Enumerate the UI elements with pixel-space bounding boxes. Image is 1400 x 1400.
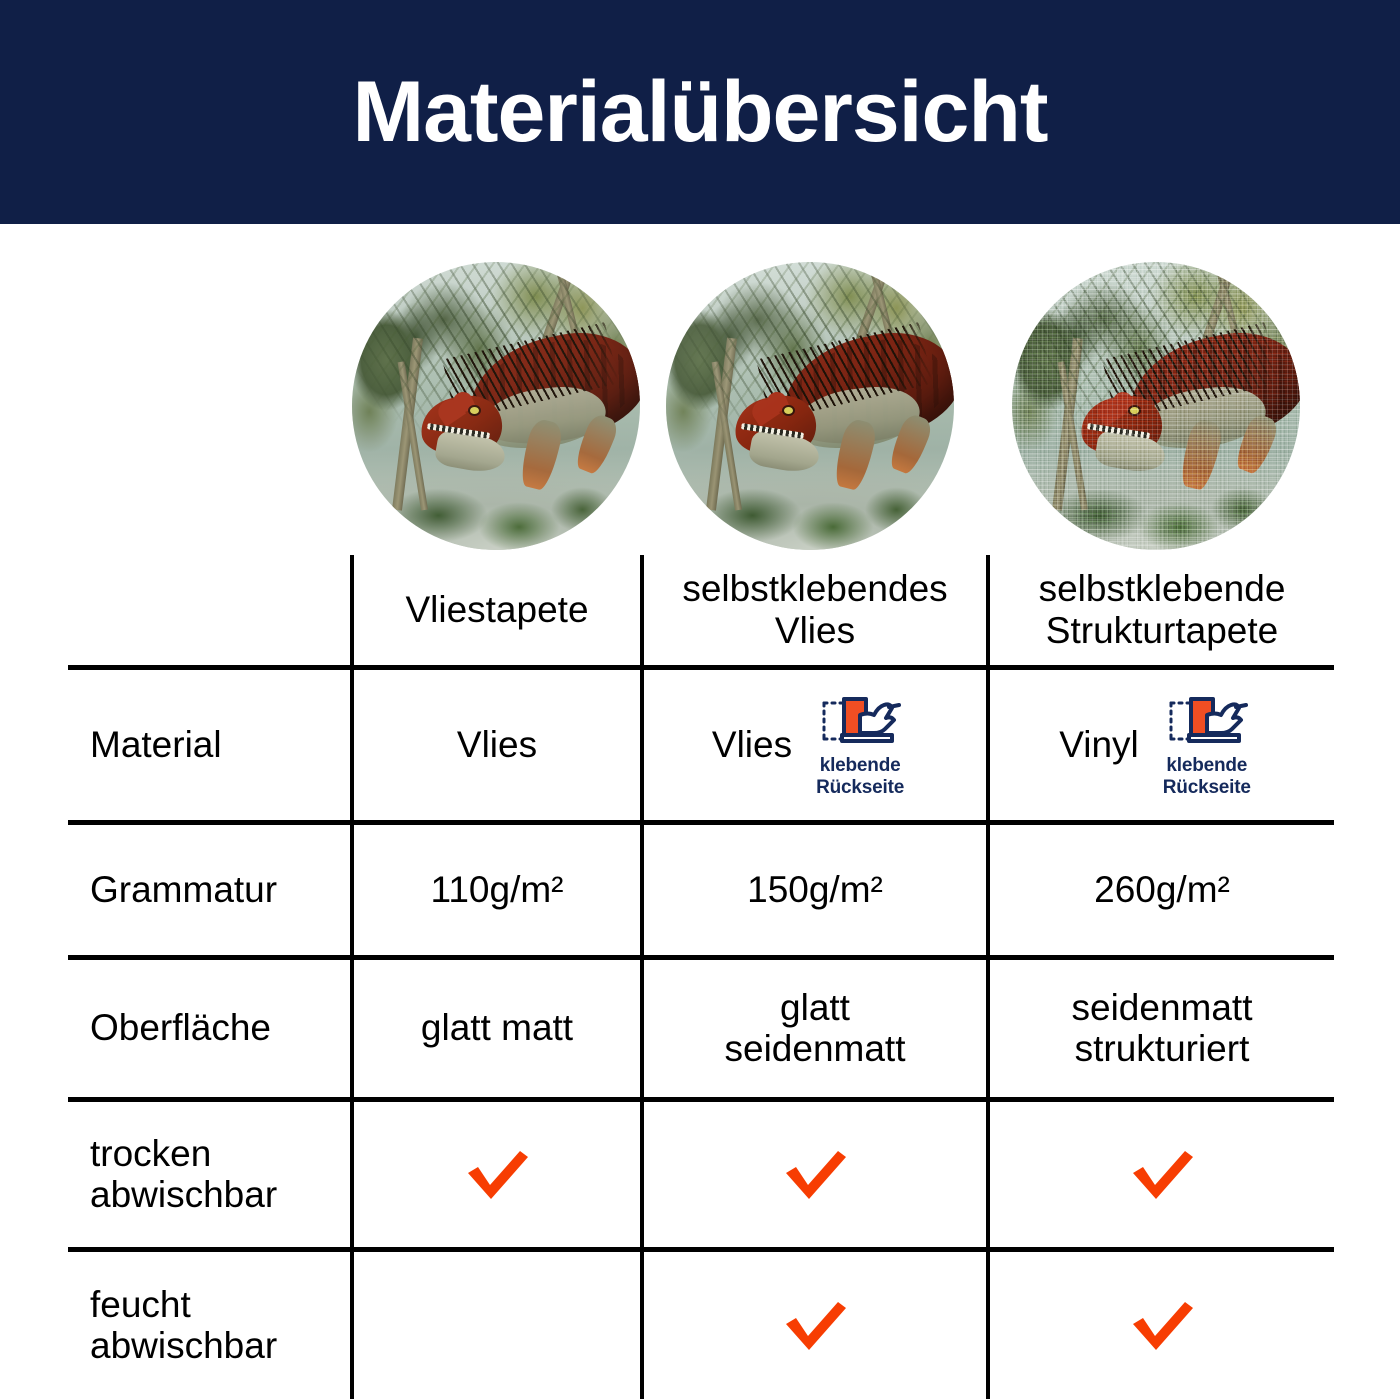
row-label-feucht-abwischbar: feucht abwischbar: [68, 1249, 352, 1399]
cell-value: 150g/m²: [747, 869, 883, 910]
table-header-row: Vliestapete selbstklebendes Vlies selbst…: [68, 555, 1334, 667]
peel-off-backing-icon: [814, 691, 906, 753]
header-cell-selbstklebendes-vlies: selbstklebendes Vlies: [642, 555, 988, 667]
cell-trocken-selbstklebende-strukturtapete: [988, 1099, 1334, 1249]
cell-feucht-selbstklebendes-vlies: [642, 1249, 988, 1399]
check-icon: [776, 1143, 854, 1205]
cell-grammatur-vliestapete: 110g/m²: [352, 822, 642, 957]
check-icon: [1123, 1294, 1201, 1356]
header-label: selbstklebendes Vlies: [682, 568, 947, 650]
material-sample-images: [352, 262, 1334, 554]
jungle-scene: [1012, 262, 1300, 550]
row-label-material: Material: [68, 667, 352, 822]
check-icon: [458, 1143, 536, 1205]
cell-value: Vinyl: [1059, 724, 1139, 765]
check-icon: [1123, 1143, 1201, 1205]
cell-material-selbstklebende-strukturtapete: Vinyl: [988, 667, 1334, 822]
structured-finish-overlay-fine: [1012, 262, 1300, 550]
header-label: selbstklebende Strukturtapete: [1039, 568, 1286, 650]
badge-label: klebende Rückseite: [1163, 755, 1251, 798]
table-row-trocken-abwischbar: trocken abwischbar: [68, 1099, 1334, 1249]
header-banner: Materialübersicht: [0, 0, 1400, 224]
no-check-placeholder: [458, 1294, 536, 1356]
header-label: Vliestapete: [405, 589, 588, 630]
cell-trocken-vliestapete: [352, 1099, 642, 1249]
silk-matte-finish-overlay: [666, 262, 954, 550]
sample-image-selbstklebende-strukturtapete: [1012, 262, 1300, 550]
klebende-rueckseite-badge: klebende Rückseite: [1149, 691, 1265, 798]
cell-grammatur-selbstklebende-strukturtapete: 260g/m²: [988, 822, 1334, 957]
cell-value: glatt matt: [421, 1007, 573, 1048]
header-cell-selbstklebende-strukturtapete: selbstklebende Strukturtapete: [988, 555, 1334, 667]
sample-image-vliestapete: [352, 262, 640, 550]
cell-value: seidenmatt strukturiert: [1072, 987, 1253, 1069]
cell-trocken-selbstklebendes-vlies: [642, 1099, 988, 1249]
cell-oberflaeche-selbstklebende-strukturtapete: seidenmatt strukturiert: [988, 957, 1334, 1099]
cell-oberflaeche-vliestapete: glatt matt: [352, 957, 642, 1099]
cell-material-selbstklebendes-vlies: Vlies: [642, 667, 988, 822]
table-row-material: Material Vlies Vlies: [68, 667, 1334, 822]
table-row-feucht-abwischbar: feucht abwischbar: [68, 1249, 1334, 1399]
cell-value: 260g/m²: [1094, 869, 1230, 910]
table-row-grammatur: Grammatur 110g/m² 150g/m² 260g/m²: [68, 822, 1334, 957]
header-cell-vliestapete: Vliestapete: [352, 555, 642, 667]
row-label-grammatur: Grammatur: [68, 822, 352, 957]
table-row-oberflaeche: Oberfläche glatt matt glatt seidenmatt s…: [68, 957, 1334, 1099]
cell-material-vliestapete: Vlies: [352, 667, 642, 822]
cell-value: glatt seidenmatt: [725, 987, 906, 1069]
cell-value: 110g/m²: [431, 869, 564, 910]
material-comparison-table: Vliestapete selbstklebendes Vlies selbst…: [68, 555, 1334, 1399]
row-label-oberflaeche: Oberfläche: [68, 957, 352, 1099]
check-icon: [776, 1294, 854, 1356]
cell-value: Vlies: [712, 724, 792, 765]
sample-image-selbstklebendes-vlies: [666, 262, 954, 550]
badge-label: klebende Rückseite: [816, 755, 904, 798]
page-title: Materialübersicht: [352, 69, 1047, 155]
peel-off-backing-icon: [1161, 691, 1253, 753]
jungle-scene: [666, 262, 954, 550]
cell-feucht-selbstklebende-strukturtapete: [988, 1249, 1334, 1399]
material-overview-page: Materialübersicht: [0, 0, 1400, 1400]
header-cell-empty: [68, 555, 352, 667]
cell-oberflaeche-selbstklebendes-vlies: glatt seidenmatt: [642, 957, 988, 1099]
row-label-trocken-abwischbar: trocken abwischbar: [68, 1099, 352, 1249]
matte-finish-overlay: [352, 262, 640, 550]
cell-value: Vlies: [457, 724, 537, 765]
jungle-scene: [352, 262, 640, 550]
klebende-rueckseite-badge: klebende Rückseite: [802, 691, 918, 798]
cell-grammatur-selbstklebendes-vlies: 150g/m²: [642, 822, 988, 957]
cell-feucht-vliestapete: [352, 1249, 642, 1399]
